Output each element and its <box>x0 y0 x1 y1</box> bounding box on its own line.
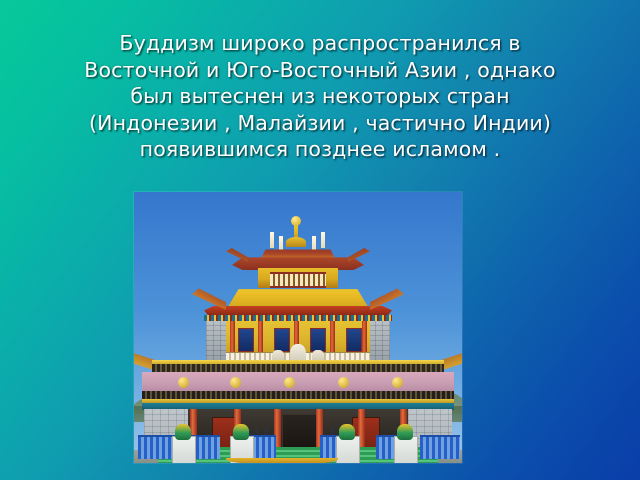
gold-boss <box>284 377 295 388</box>
middle-roof-tip-left <box>192 288 226 310</box>
ornamental-column <box>397 424 413 440</box>
gold-boss <box>338 377 349 388</box>
main-roof-cornice <box>152 364 444 372</box>
gold-boss <box>230 377 241 388</box>
stair-pedestal <box>172 436 196 463</box>
middle-tier-wall-right <box>368 321 390 361</box>
stair-pedestal <box>336 436 360 463</box>
caption-line-4: (Индонезии , Малайзии , частично Индии) <box>0 110 640 137</box>
upper-roof-tip-left <box>226 248 248 262</box>
caption-line-2: Восточной и Юго-Восточный Азии , однако <box>0 57 640 84</box>
upper-tier-balustrade <box>270 272 326 288</box>
gold-boss <box>178 377 189 388</box>
caption-line-5: появившимся позднее исламом . <box>0 136 640 163</box>
spire-base <box>286 237 306 247</box>
ornamental-column <box>233 424 249 440</box>
roof-finial-right <box>321 232 325 248</box>
ornamental-column <box>175 424 191 440</box>
presentation-slide: Буддизм широко распространился в Восточн… <box>0 0 640 480</box>
middle-roof-tip-right <box>370 288 404 310</box>
middle-tier-window <box>274 328 290 352</box>
middle-tier-window <box>238 328 254 352</box>
spire-finial-orb <box>291 216 301 226</box>
slide-caption: Буддизм широко распространился в Восточн… <box>0 30 640 163</box>
middle-tier-window <box>346 328 362 352</box>
caption-line-1: Буддизм широко распространился в <box>0 30 640 57</box>
roof-finial-left <box>270 232 274 248</box>
temple-photo <box>134 192 462 463</box>
ornamental-column <box>339 424 355 440</box>
blue-railing <box>420 435 460 459</box>
caption-line-3: был вытеснен из некоторых стран <box>0 83 640 110</box>
upper-roof-tip-right <box>348 248 370 262</box>
stair-pedestal <box>394 436 418 463</box>
middle-tier-window <box>310 328 326 352</box>
ceremonial-rope <box>226 458 338 463</box>
gold-boss <box>392 377 403 388</box>
middle-tier-wall-left <box>206 321 228 361</box>
